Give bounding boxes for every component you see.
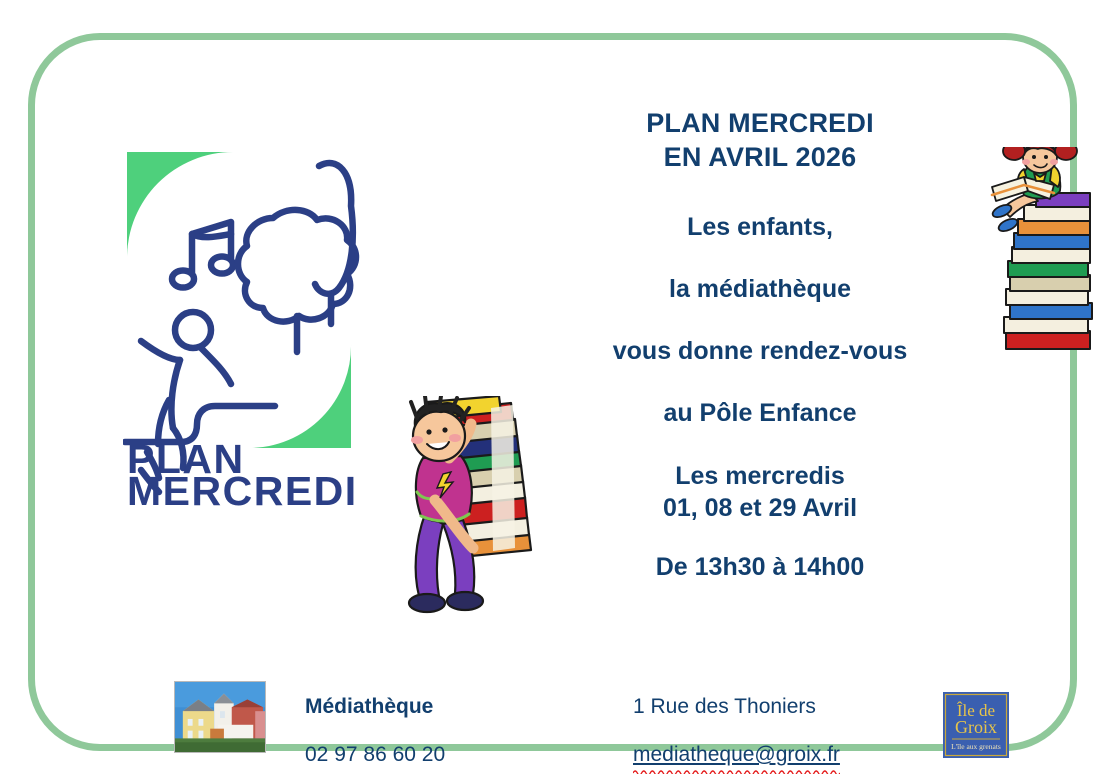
headline-line2: EN AVRIL 2026 [535,140,985,174]
girl-reading-on-book-stack-illustration [990,147,1100,359]
dates-line-values: 01, 08 et 29 Avril [535,492,985,524]
time-range: De 13h30 à 14h00 [535,552,985,582]
spellcheck-squiggle [633,769,840,774]
ile-de-groix-logo: Île de Groix L'île aux grenats [943,692,1009,758]
venue-street: 1 Rue des Thoniers [633,693,933,721]
dates-line-label: Les mercredis [535,460,985,492]
body-line-2: la médiathèque [535,274,985,304]
body-line-3: vous donne rendez-vous [535,336,985,366]
poster-frame: PLAN MERCREDI [28,33,1077,751]
venue-phone: 02 97 86 60 20 [305,741,535,769]
headline-line1: PLAN MERCREDI [535,106,985,140]
mediatheque-building-photo [174,681,266,753]
body-line-4: au Pôle Enfance [535,398,985,428]
venue-email-text: mediatheque@groix.fr [633,743,840,766]
body-line-1: Les enfants, [535,212,985,242]
plan-mercredi-logo: PLAN MERCREDI [123,148,368,508]
venue-name: Médiathèque [305,693,535,721]
groix-line2: Groix [955,717,997,737]
poster-text-column: PLAN MERCREDI EN AVRIL 2026 Les enfants,… [535,106,985,582]
footer-address-block: 1 Rue des Thoniers mediatheque@groix.fr [633,693,933,769]
footer-venue-block: Médiathèque 02 97 86 60 20 [305,693,535,769]
groix-tagline: L'île aux grenats [951,742,1001,751]
venue-email-link[interactable]: mediatheque@groix.fr [633,741,840,769]
boy-carrying-books-illustration [387,396,542,624]
logo-text-line2: MERCREDI [127,468,358,508]
